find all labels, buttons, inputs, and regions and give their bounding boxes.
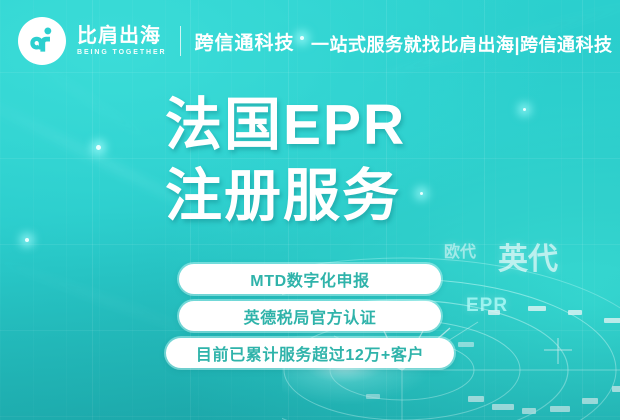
feature-pill-mtd[interactable]: MTD数字化申报 [179,264,441,294]
feature-pill-list: MTD数字化申报 英德税局官方认证 目前已累计服务超过12万+客户 [0,264,620,368]
glow-dot-icon [25,238,29,242]
watermark-oudai: 欧代 [444,238,476,262]
glow-dot-icon [523,108,526,111]
logo-name-en: BEING TOGETHER [77,49,166,56]
hero-title-line-1: 法国EPR [165,96,406,155]
hero-title: 法国EPR 注册服务 [165,96,406,225]
glow-dot-icon [420,192,423,195]
feature-pill-certify[interactable]: 英德税局官方认证 [179,301,441,331]
logo-wordmark: 比肩出海 BEING TOGETHER [77,26,166,56]
hero-title-line-2: 注册服务 [165,167,406,226]
glow-dot-icon [96,145,101,150]
feature-pill-clients[interactable]: 目前已累计服务超过12万+客户 [166,338,454,368]
header-divider [180,26,181,56]
promo-banner: 比肩出海 BEING TOGETHER 跨信通科技 一站式服务就找比肩出海|跨信… [0,0,620,420]
brand-secondary: 跨信通科技 [194,28,294,55]
header-tagline: 一站式服务就找比肩出海|跨信通科技 [311,31,613,57]
logo-name-cn: 比肩出海 [77,26,166,47]
company-logo-icon [18,17,66,65]
